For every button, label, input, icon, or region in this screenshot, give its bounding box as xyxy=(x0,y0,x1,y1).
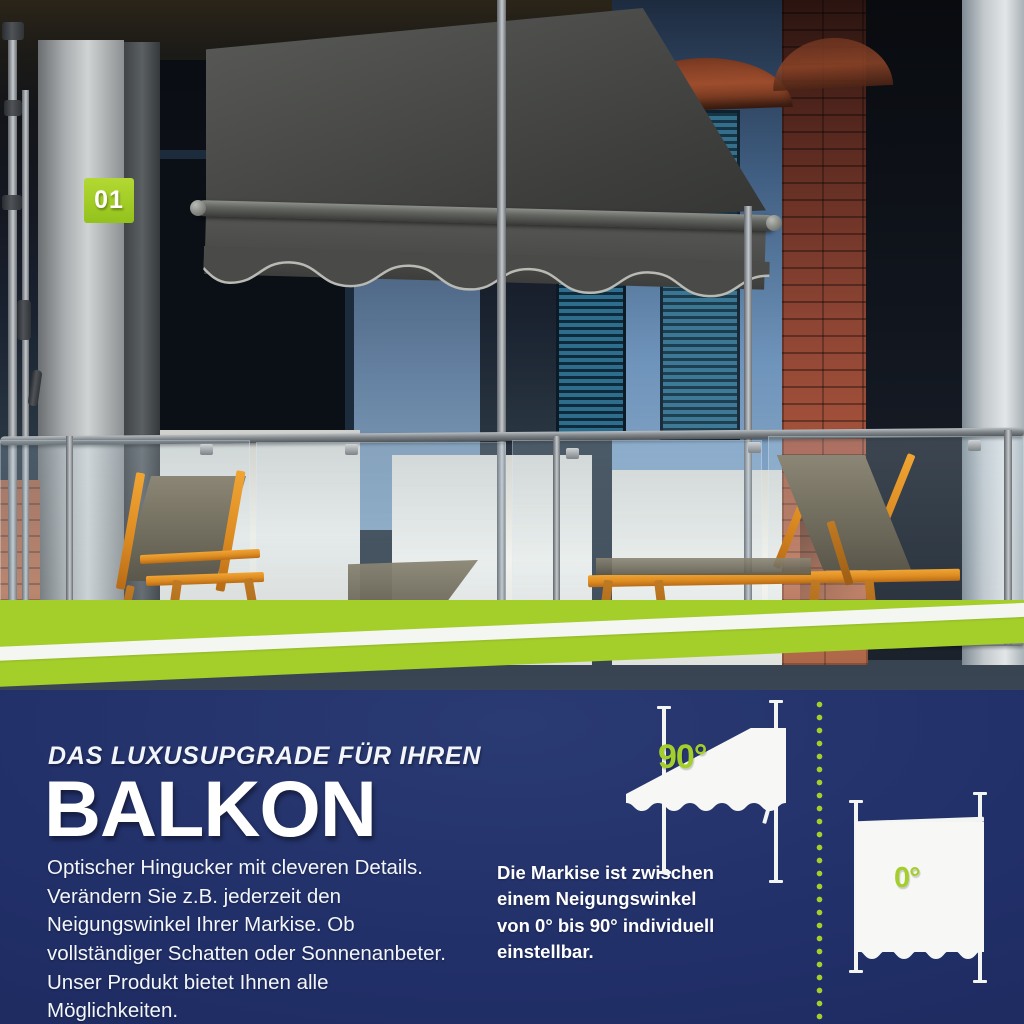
diagram90-post-right-foot xyxy=(769,880,783,883)
pole-clamp-rail-left xyxy=(2,195,22,210)
page-title: BALKON xyxy=(44,769,376,848)
diagram90-post-right-cap xyxy=(769,700,783,703)
diagram-awning-90: 90° xyxy=(616,700,816,890)
product-photo: 01 xyxy=(0,0,1024,700)
diagram90-scalloped-edge xyxy=(626,800,786,812)
diagram90-post-left-cap xyxy=(657,706,671,709)
diagram0-post-right-foot xyxy=(973,980,987,983)
crank-housing xyxy=(17,300,31,340)
glass-clamp-1 xyxy=(200,444,213,455)
lounger-seat-fabric xyxy=(596,558,811,575)
diagram0-scalloped-edge xyxy=(856,946,984,960)
awning-roller-cap-left xyxy=(190,200,206,216)
awning-roller-cap-right xyxy=(766,215,782,231)
diagram90-angle-label: 90° xyxy=(658,738,706,777)
glass-clamp-2 xyxy=(345,444,358,455)
diagram0-post-left-foot xyxy=(849,970,863,973)
body-copy-left: Optischer Hingucker mit cleveren Details… xyxy=(47,854,447,1024)
glass-clamp-3 xyxy=(566,448,579,459)
info-panel: DAS LUXUSUPGRADE FÜR IHREN BALKON Optisc… xyxy=(0,690,1024,1024)
glass-clamp-4 xyxy=(748,442,761,453)
diagram0-post-right-cap xyxy=(973,792,987,795)
pole-clamp-mid-left xyxy=(4,100,22,116)
glass-clamp-5 xyxy=(968,440,981,451)
diagram0-canopy xyxy=(856,822,984,952)
product-infographic: 01 DAS LUXUSUPGRADE FÜR IHREN BALKON Opt… xyxy=(0,0,1024,1024)
diagram0-angle-label: 0° xyxy=(894,862,920,895)
diagram0-post-left-cap xyxy=(849,800,863,803)
diagram90-post-left-foot xyxy=(657,871,671,874)
dotted-divider xyxy=(816,698,823,1024)
pole-clamp-top-left xyxy=(2,22,24,40)
callout-badge-01-photo[interactable]: 01 xyxy=(84,178,134,223)
diagram-awning-0: 0° xyxy=(842,800,1012,1000)
